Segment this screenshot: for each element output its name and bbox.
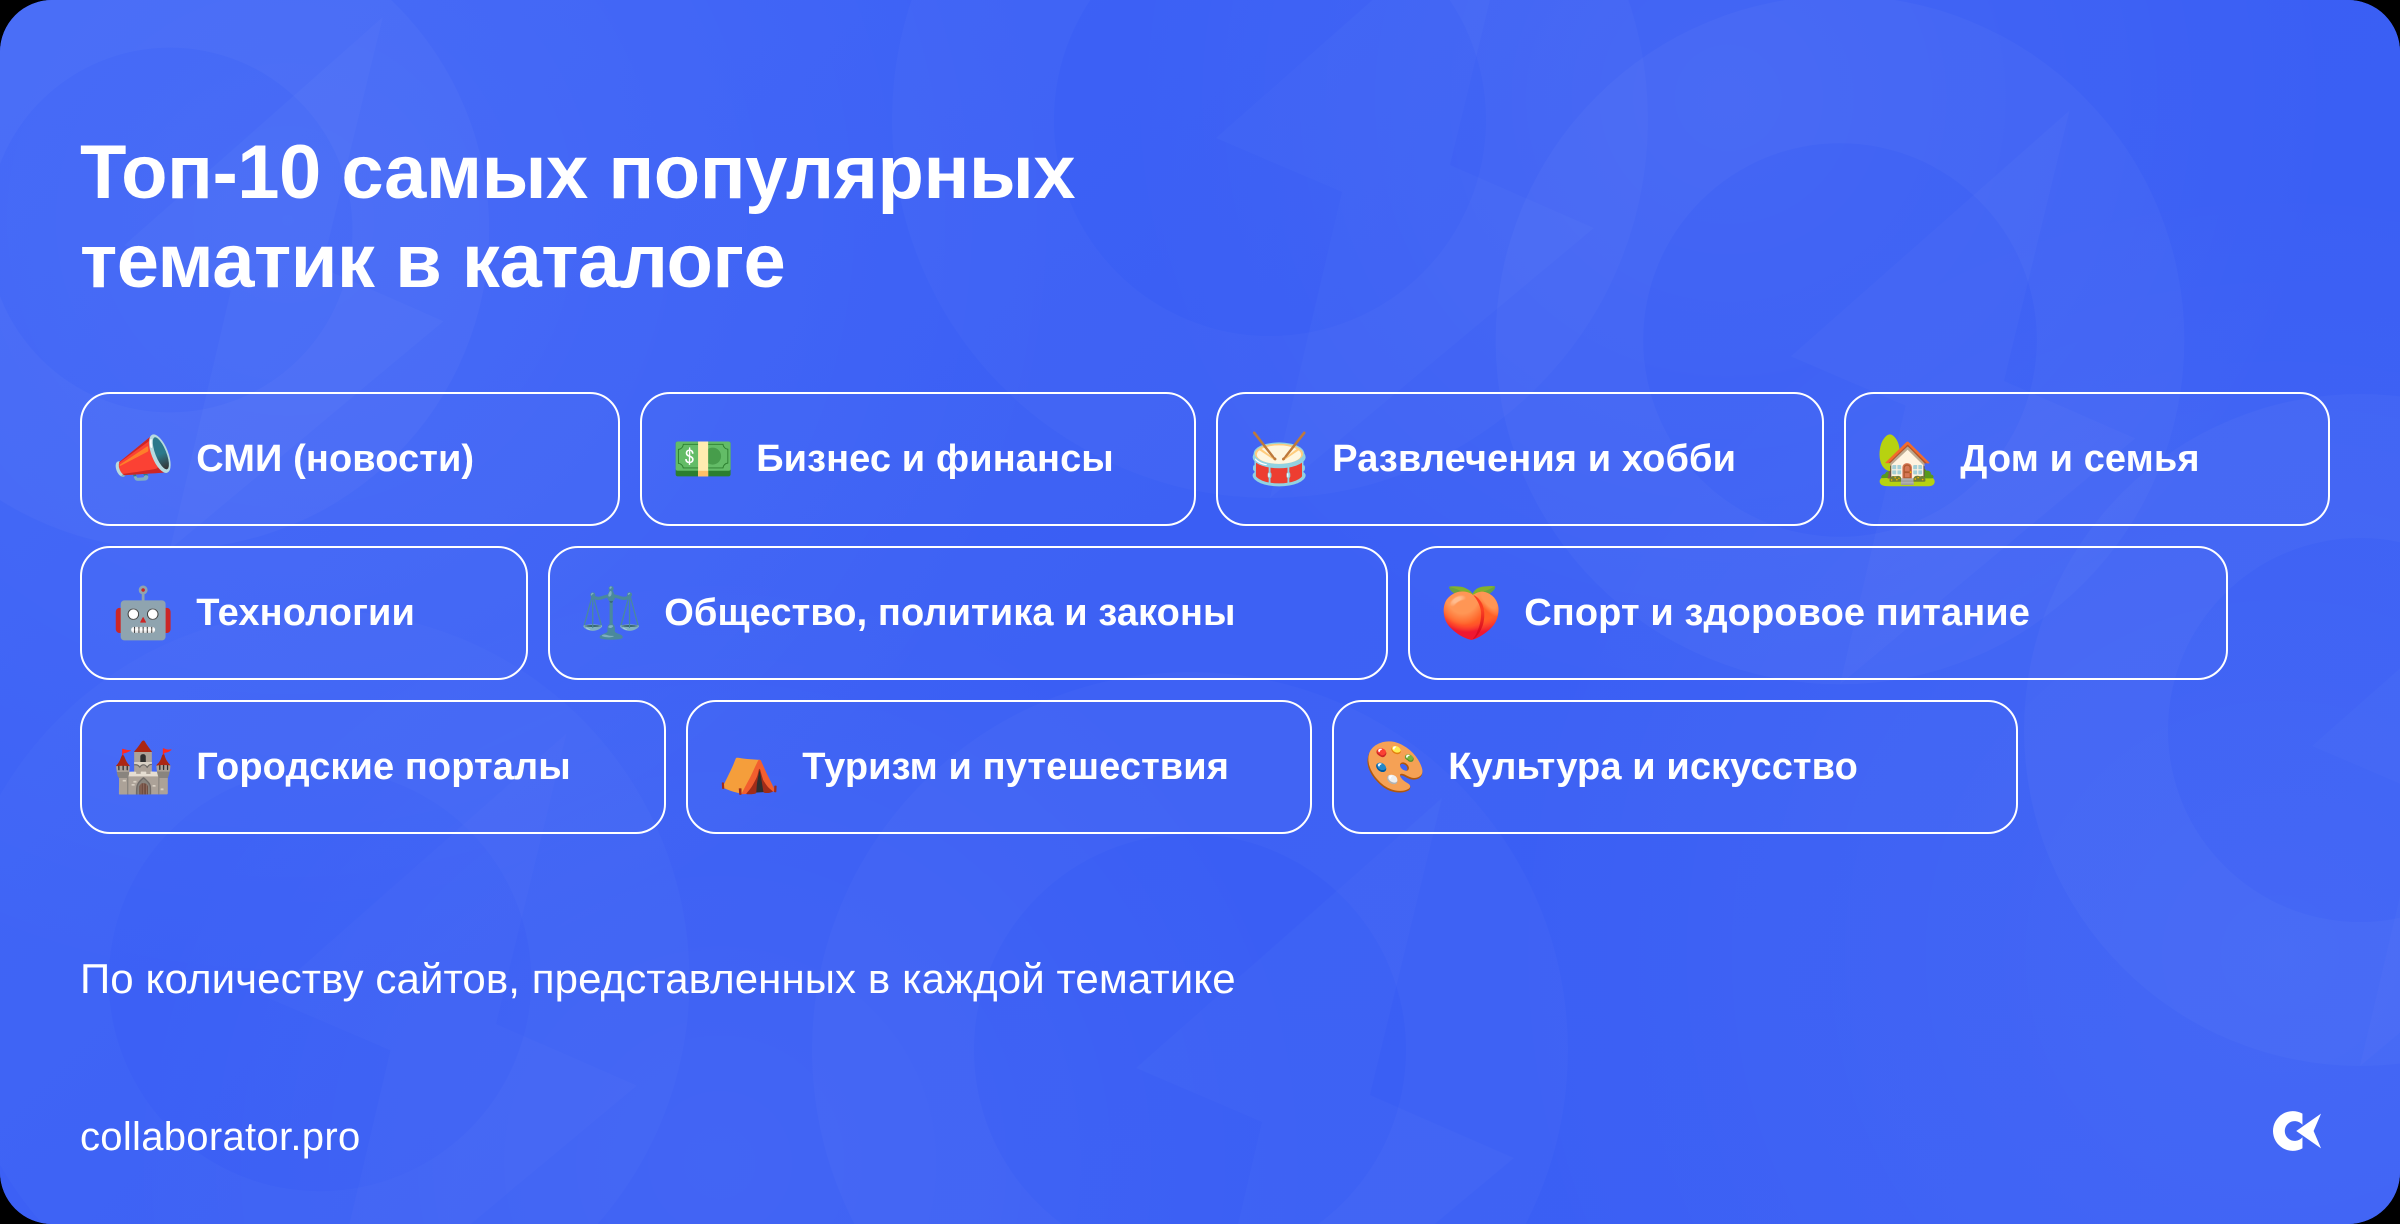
drum-icon: 🥁 bbox=[1248, 434, 1310, 484]
tent-icon: ⛺ bbox=[718, 742, 780, 792]
banknote-icon: 💵 bbox=[672, 434, 734, 484]
topic-chip-label: Туризм и путешествия bbox=[802, 746, 1229, 789]
topic-chip-label: Культура и искусство bbox=[1448, 746, 1858, 789]
infographic-poster: Топ-10 самых популярных тематик в катало… bbox=[0, 0, 2400, 1224]
topic-chip-label: Общество, политика и законы bbox=[664, 592, 1235, 635]
topic-chip[interactable]: 💵Бизнес и финансы bbox=[640, 392, 1196, 526]
topic-chip[interactable]: 🤖Технологии bbox=[80, 546, 528, 680]
topic-chip-label: Городские порталы bbox=[196, 746, 571, 789]
balance-scale-icon: ⚖️ bbox=[580, 588, 642, 638]
topic-chip-row: 🤖Технологии⚖️Общество, политика и законы… bbox=[80, 546, 2330, 680]
house-with-garden-icon: 🏡 bbox=[1876, 434, 1938, 484]
robot-icon: 🤖 bbox=[112, 588, 174, 638]
topic-chip[interactable]: 📣СМИ (новости) bbox=[80, 392, 620, 526]
topic-chip-label: СМИ (новости) bbox=[196, 438, 474, 481]
site-url[interactable]: collaborator.pro bbox=[80, 1115, 361, 1160]
topic-chip-label: Технологии bbox=[196, 592, 415, 635]
topic-chip-label: Развлечения и хобби bbox=[1332, 438, 1736, 481]
page-title: Топ-10 самых популярных тематик в катало… bbox=[80, 129, 1580, 307]
topic-chip[interactable]: ⚖️Общество, политика и законы bbox=[548, 546, 1388, 680]
topic-chip-label: Спорт и здоровое питание bbox=[1524, 592, 2030, 635]
peach-icon: 🍑 bbox=[1440, 588, 1502, 638]
topic-chip[interactable]: ⛺Туризм и путешествия bbox=[686, 700, 1312, 834]
castle-icon: 🏰 bbox=[112, 742, 174, 792]
topic-chip[interactable]: 🏰Городские порталы bbox=[80, 700, 666, 834]
topic-chip[interactable]: 🥁Развлечения и хобби bbox=[1216, 392, 1824, 526]
topic-chip[interactable]: 🍑Спорт и здоровое питание bbox=[1408, 546, 2228, 680]
topic-chip-grid: 📣СМИ (новости)💵Бизнес и финансы🥁Развлече… bbox=[80, 392, 2330, 854]
topic-chip-label: Бизнес и финансы bbox=[756, 438, 1114, 481]
topic-chip-row: 📣СМИ (новости)💵Бизнес и финансы🥁Развлече… bbox=[80, 392, 2330, 526]
collaborator-logo-icon bbox=[2264, 1100, 2326, 1162]
caption-text: По количеству сайтов, представленных в к… bbox=[80, 955, 1236, 1003]
topic-chip-label: Дом и семья bbox=[1960, 438, 2199, 481]
megaphone-icon: 📣 bbox=[112, 434, 174, 484]
topic-chip-row: 🏰Городские порталы⛺Туризм и путешествия🎨… bbox=[80, 700, 2330, 834]
topic-chip[interactable]: 🏡Дом и семья bbox=[1844, 392, 2330, 526]
artist-palette-icon: 🎨 bbox=[1364, 742, 1426, 792]
topic-chip[interactable]: 🎨Культура и искусство bbox=[1332, 700, 2018, 834]
